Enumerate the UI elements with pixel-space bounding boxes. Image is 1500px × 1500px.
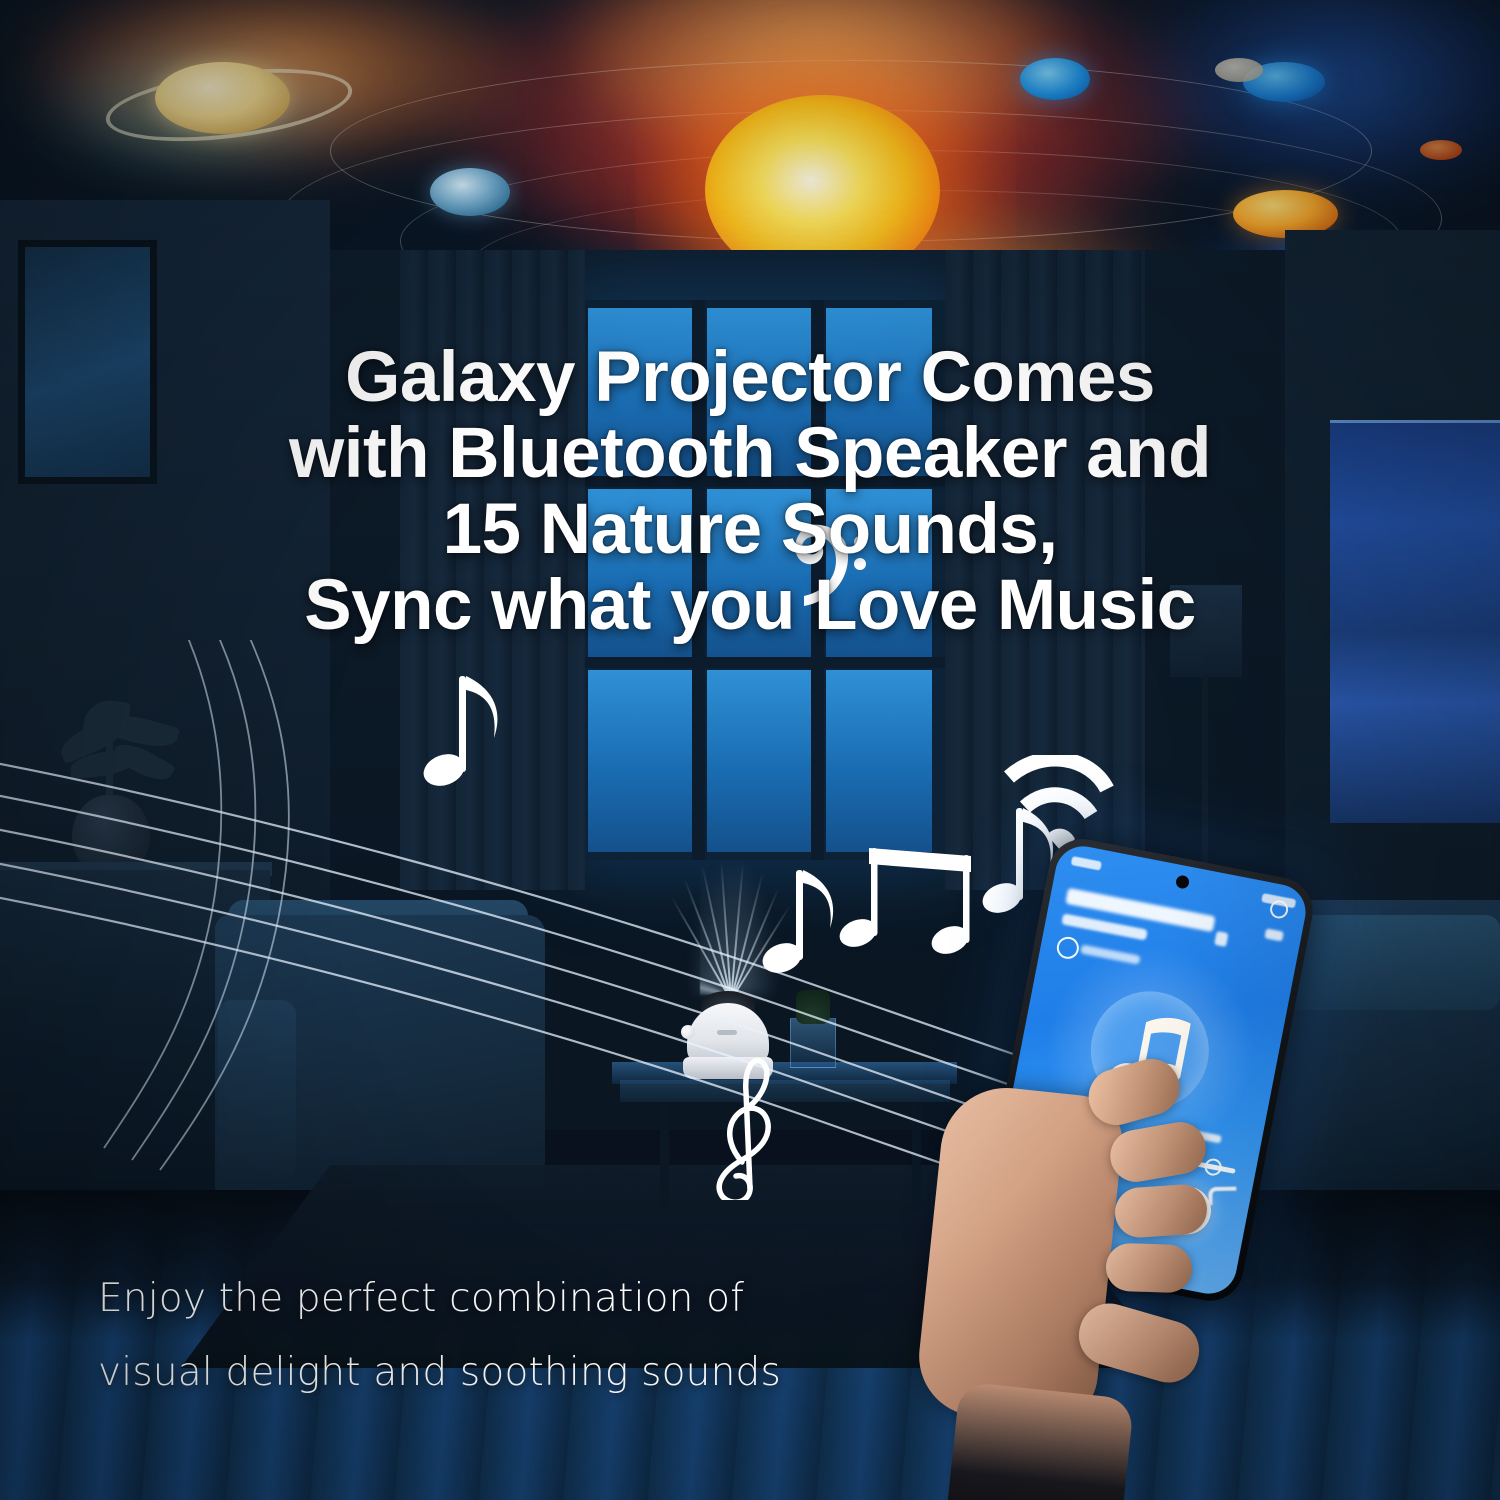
window-pane bbox=[707, 670, 813, 852]
table-leg bbox=[660, 1100, 669, 1210]
headline-line-4: Sync what you Love Music bbox=[0, 568, 1500, 644]
status-bar-left bbox=[1071, 856, 1102, 871]
projector-indicator bbox=[717, 1030, 737, 1035]
planet-neptune bbox=[1020, 58, 1090, 100]
projector-knob bbox=[681, 1025, 695, 1039]
projector-beam-rays bbox=[680, 860, 780, 1000]
armchair-arm bbox=[218, 1000, 296, 1180]
planet-saturn bbox=[155, 62, 290, 134]
small-succulent-plant bbox=[796, 990, 830, 1024]
headline-line-1: Galaxy Projector Comes bbox=[0, 340, 1500, 416]
caption-line-1: Enjoy the perfect combination of bbox=[98, 1262, 998, 1336]
front-camera bbox=[1175, 874, 1190, 889]
ring-finger bbox=[1113, 1183, 1208, 1239]
middle-finger bbox=[1106, 1118, 1210, 1186]
star-projector-device bbox=[683, 985, 773, 1080]
planet-earth bbox=[430, 168, 510, 216]
bluetooth-icon[interactable] bbox=[1264, 928, 1284, 941]
track-artist bbox=[1061, 913, 1148, 940]
window-pane bbox=[826, 670, 932, 852]
window-pane bbox=[588, 670, 694, 852]
subtitle-caption: Enjoy the perfect combination of visual … bbox=[98, 1262, 998, 1410]
headline-line-3: 15 Nature Sounds, bbox=[0, 492, 1500, 568]
window-mullion bbox=[580, 657, 950, 668]
page-title: Galaxy Projector Comes with Bluetooth Sp… bbox=[0, 340, 1500, 644]
projector-base bbox=[683, 1057, 773, 1079]
product-banner: Galaxy Projector Comes with Bluetooth Sp… bbox=[0, 0, 1500, 1500]
little-finger bbox=[1105, 1243, 1193, 1294]
glass-vase bbox=[790, 1018, 836, 1068]
planet-mercury bbox=[1215, 58, 1263, 82]
headline-line-2: with Bluetooth Speaker and bbox=[0, 416, 1500, 492]
planet-mars bbox=[1420, 140, 1462, 160]
volume-icon[interactable] bbox=[1214, 931, 1228, 947]
device-icon[interactable] bbox=[1055, 935, 1081, 961]
caption-line-2: visual delight and soothing sounds bbox=[98, 1336, 998, 1410]
